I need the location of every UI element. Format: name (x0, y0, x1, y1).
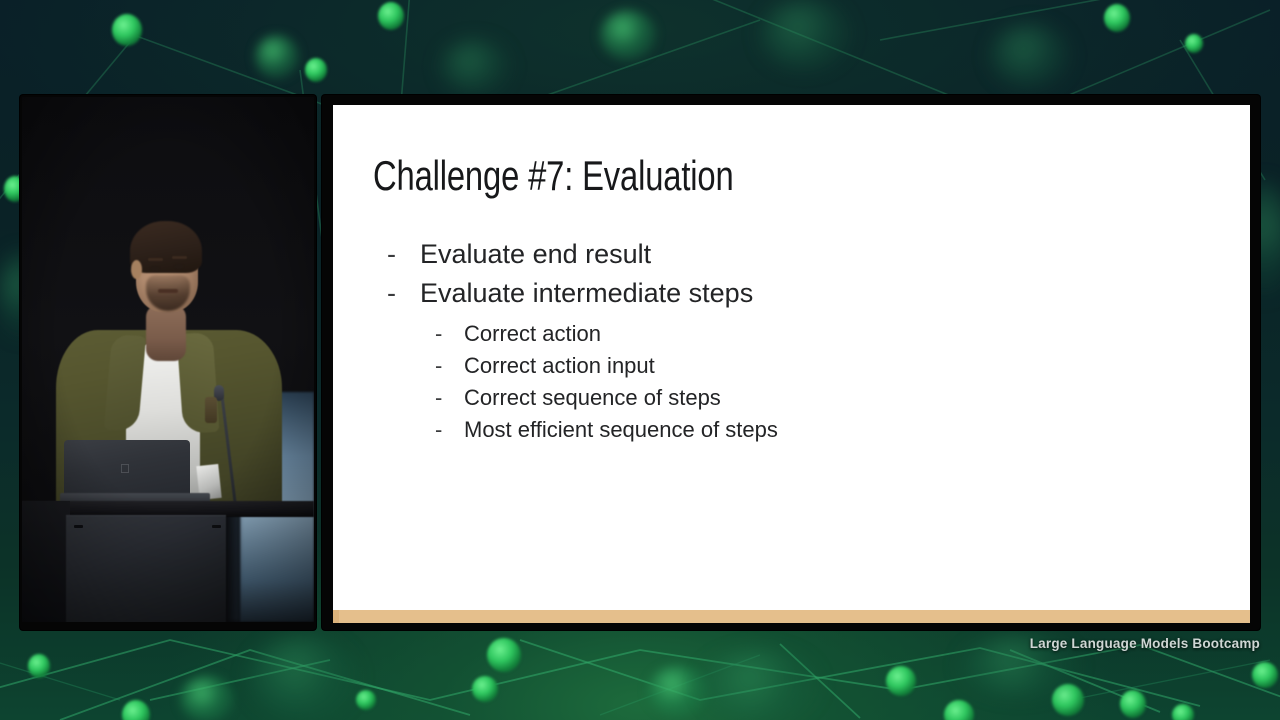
bullet-text: Correct action (464, 318, 1217, 350)
bullet-marker: - (435, 414, 464, 446)
bullet-item: - Evaluate intermediate steps (387, 274, 1217, 313)
slide-accent-bar (333, 610, 1250, 623)
bullet-marker: - (387, 235, 420, 274)
bullet-text: Most efficient sequence of steps (464, 414, 1217, 446)
bullet-item: - Most efficient sequence of steps (435, 414, 1217, 446)
bullet-marker: - (435, 350, 464, 382)
bullet-marker: - (435, 382, 464, 414)
bullet-text: Evaluate intermediate steps (420, 274, 1217, 313)
bullet-text: Correct action input (464, 350, 1217, 382)
presentation-stage:  Challenge #7: Evaluation - Evaluate en… (0, 0, 1280, 720)
bullet-item: - Correct action input (435, 350, 1217, 382)
bullet-item: - Correct sequence of steps (435, 382, 1217, 414)
bullet-item: - Evaluate end result (387, 235, 1217, 274)
event-watermark: Large Language Models Bootcamp (1030, 636, 1260, 651)
bullet-marker: - (387, 274, 420, 313)
slide-bullet-list: - Evaluate end result - Evaluate interme… (387, 235, 1217, 446)
bullet-marker: - (435, 318, 464, 350)
slide-title: Challenge #7: Evaluation (373, 153, 734, 199)
video-vignette (22, 97, 314, 622)
bullet-text: Evaluate end result (420, 235, 1217, 274)
speaker-video-feed[interactable]:  (22, 97, 314, 622)
bullet-item: - Correct action (435, 318, 1217, 350)
bullet-text: Correct sequence of steps (464, 382, 1217, 414)
presentation-slide[interactable]: Challenge #7: Evaluation - Evaluate end … (333, 105, 1250, 623)
